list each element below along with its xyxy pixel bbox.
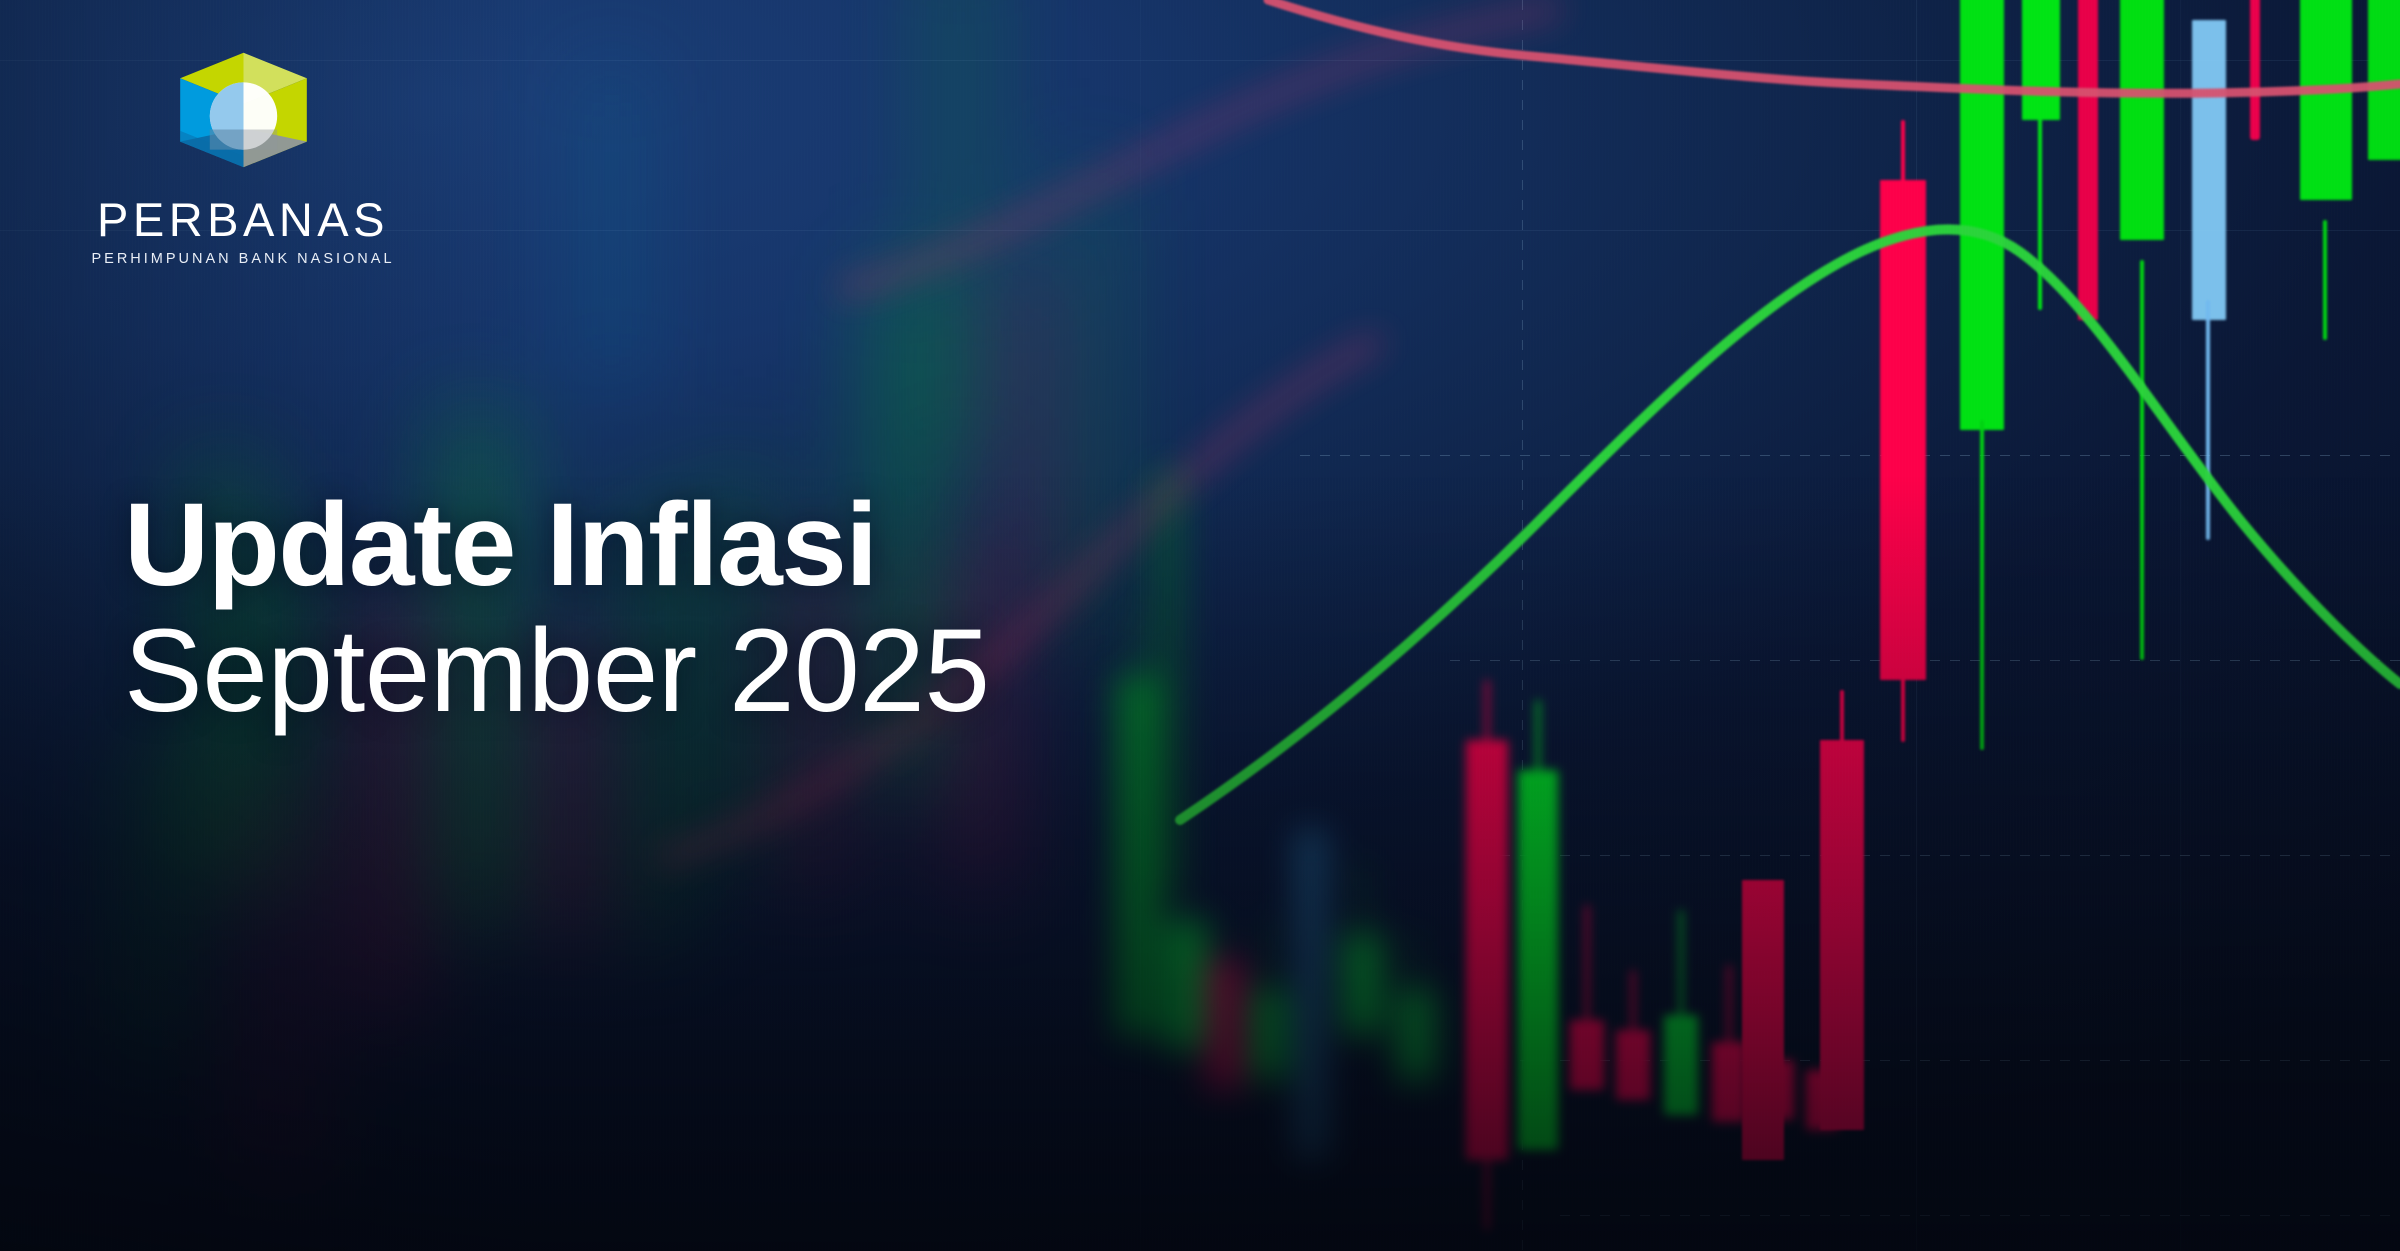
cube-icon xyxy=(176,50,311,182)
brand-tagline: PERHIMPUNAN BANK NASIONAL xyxy=(78,252,408,267)
headline-block: Update Inflasi September 2025 xyxy=(124,485,990,732)
brand-name: PERBANAS xyxy=(78,196,408,243)
banner-canvas: PERBANAS PERHIMPUNAN BANK NASIONAL Updat… xyxy=(0,0,2400,1251)
perbanas-cube-logo-icon xyxy=(176,50,311,182)
headline-line-1: Update Inflasi xyxy=(124,485,990,605)
perbanas-logo[interactable]: PERBANAS PERHIMPUNAN BANK NASIONAL xyxy=(78,50,408,267)
headline-line-2: September 2025 xyxy=(124,611,990,731)
